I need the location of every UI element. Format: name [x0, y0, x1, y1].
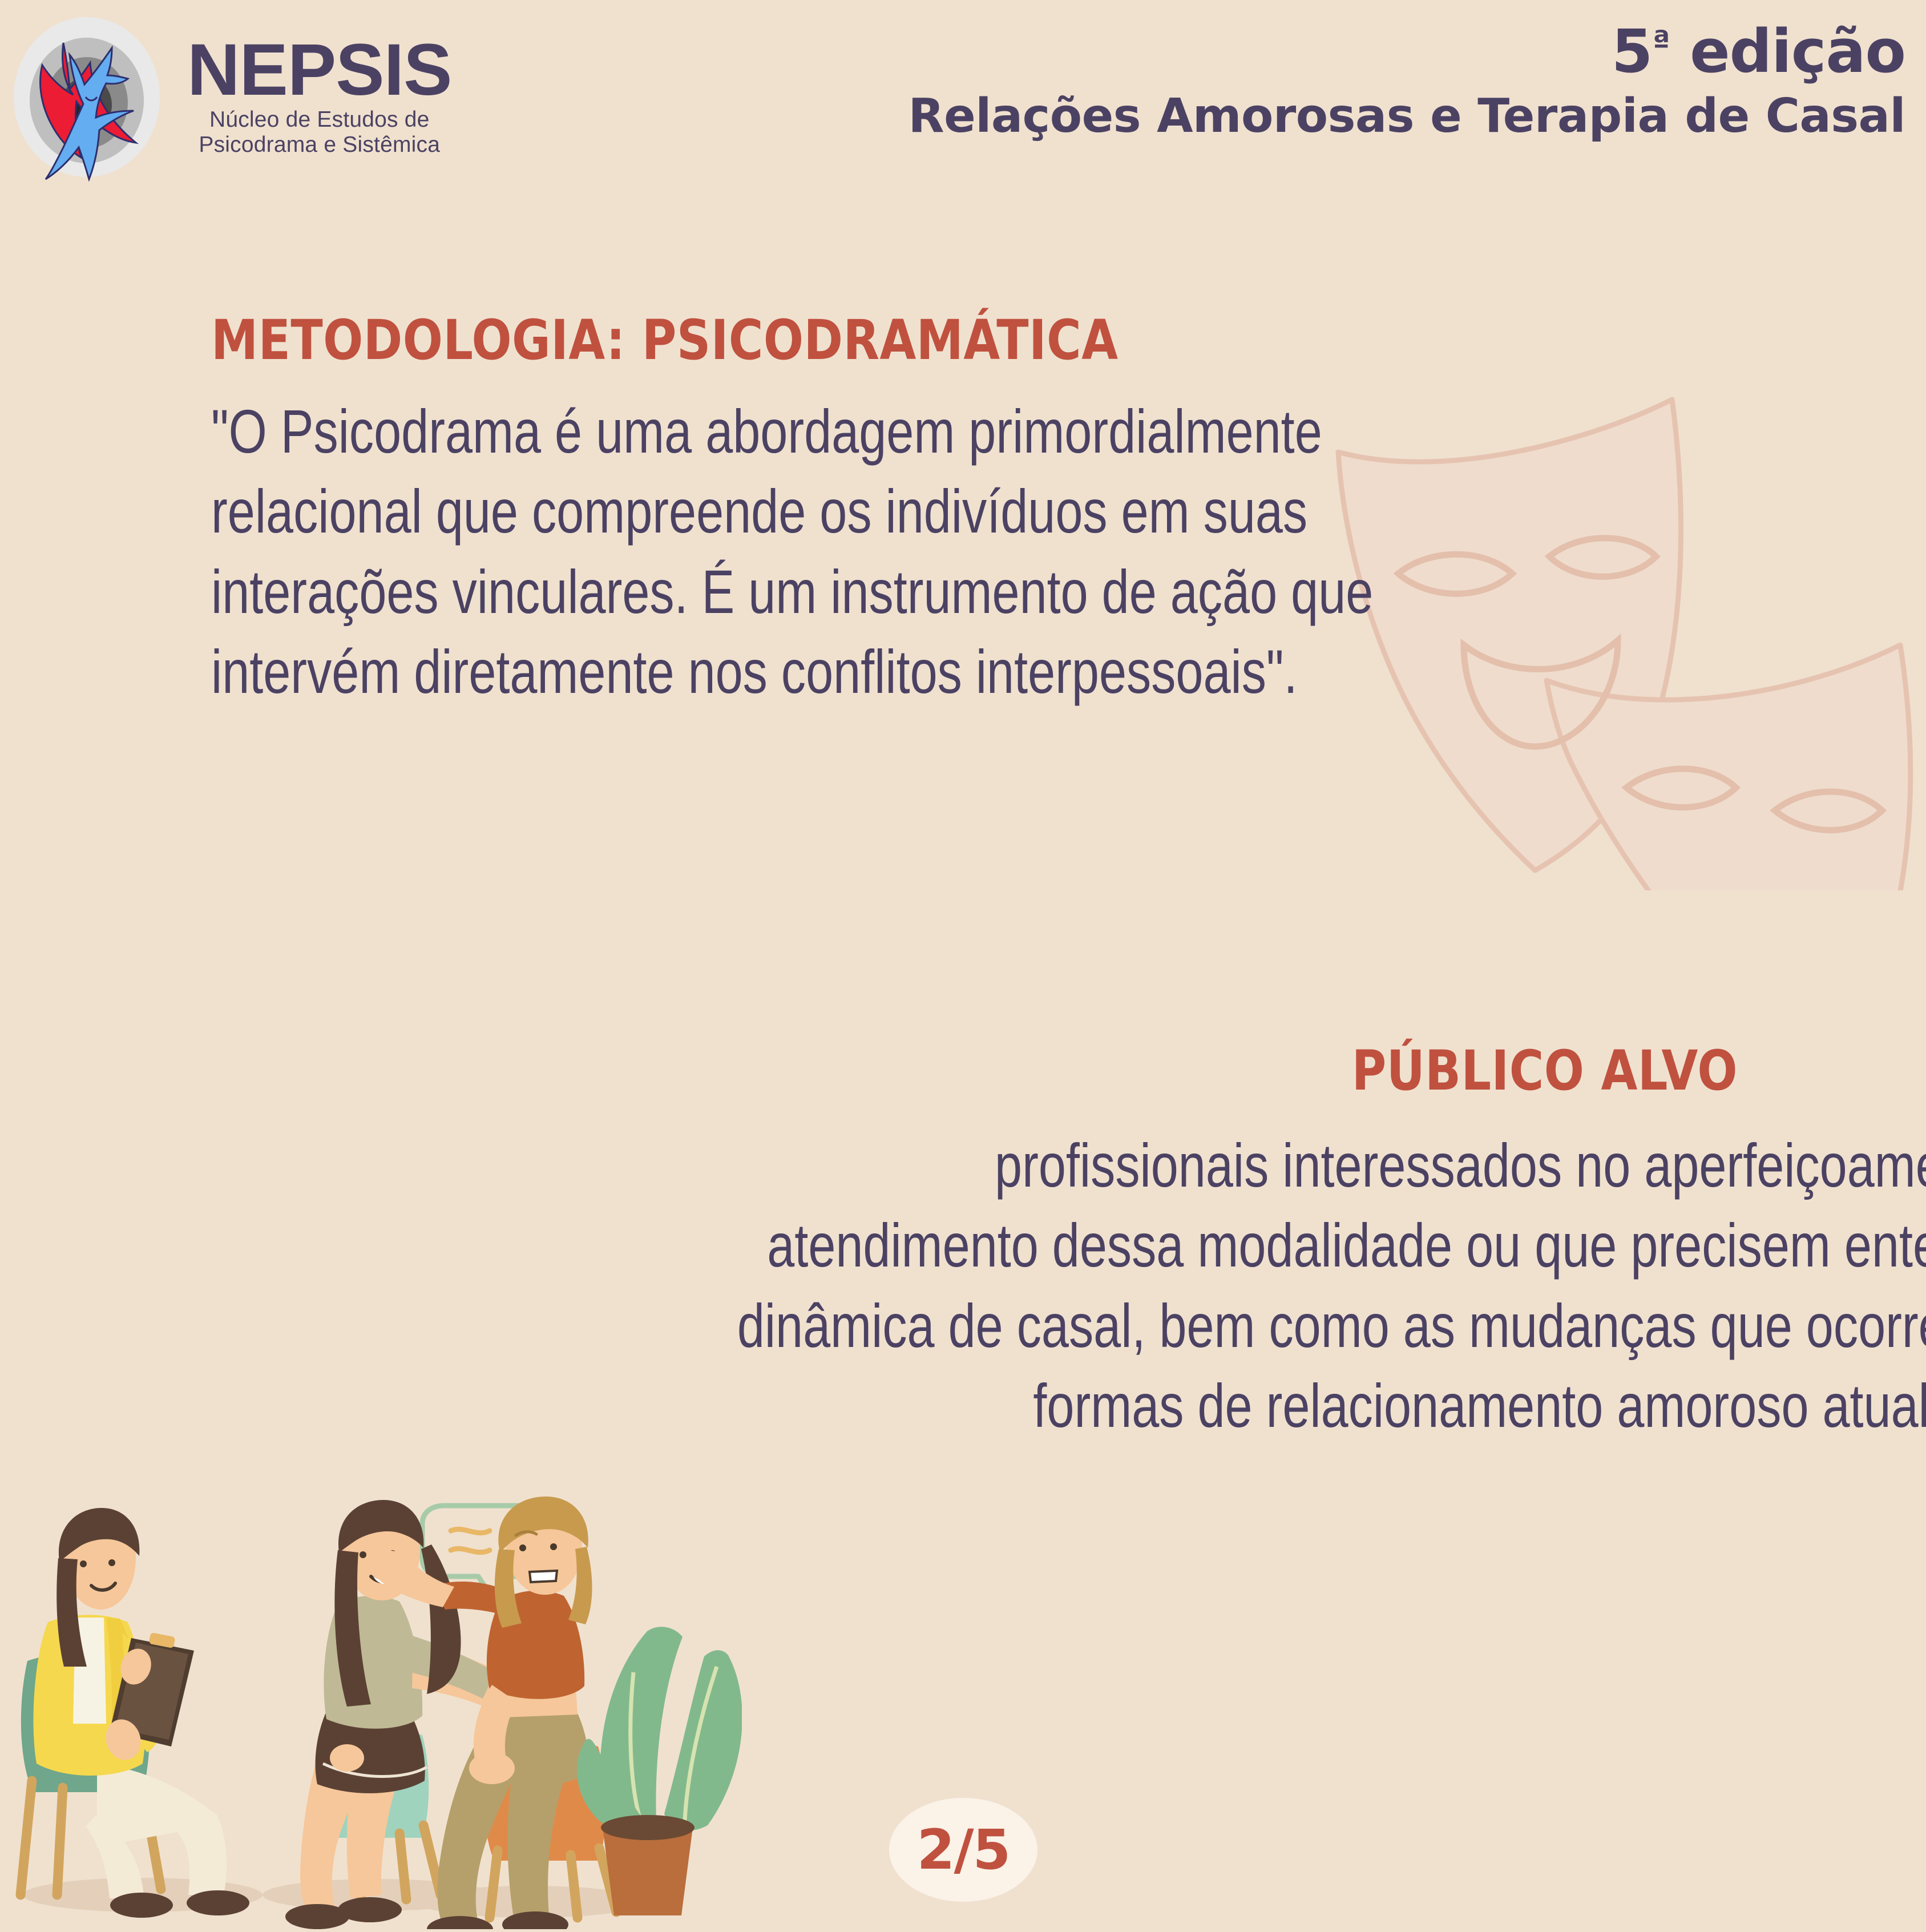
- audience-body: profissionais interessados no aperfeiçoa…: [710, 1126, 1926, 1446]
- poster-canvas: NEPSIS Núcleo de Estudos de Psicodrama e…: [0, 0, 1926, 1926]
- brand-subtitle: Núcleo de Estudos de Psicodrama e Sistêm…: [187, 107, 452, 158]
- nepsis-dancing-figures-logo-icon: [6, 10, 177, 181]
- brand-logo: NEPSIS Núcleo de Estudos de Psicodrama e…: [6, 10, 452, 181]
- brand-name: NEPSIS: [187, 37, 452, 104]
- edition-word: edição: [1670, 17, 1905, 86]
- page-indicator-text: 2/5: [917, 1818, 1010, 1882]
- audience-section: PÚBLICO ALVO profissionais interessados …: [368, 1039, 1738, 1446]
- person-facilitator: [21, 1508, 249, 1918]
- brand-subtitle-line2: Psicodrama e Sistêmica: [187, 132, 452, 158]
- audience-heading: PÚBLICO ALVO: [560, 1039, 1738, 1103]
- methodology-heading: METODOLOGIA: PSICODRAMÁTICA: [211, 308, 1350, 372]
- group-therapy-illustration: [0, 1495, 742, 1929]
- brand-subtitle-line1: Núcleo de Estudos de: [187, 107, 452, 132]
- brand-text: NEPSIS Núcleo de Estudos de Psicodrama e…: [187, 10, 452, 158]
- methodology-body: "O Psicodrama é uma abordagem primordial…: [211, 392, 1398, 712]
- edition-label: 5ª edição: [908, 21, 1905, 83]
- edition-number: 5: [1612, 17, 1652, 86]
- methodology-section: METODOLOGIA: PSICODRAMÁTICA "O Psicodram…: [211, 308, 1535, 712]
- page-indicator-badge: 2/5: [889, 1798, 1037, 1902]
- event-subtitle: Relações Amorosas e Terapia de Casal: [908, 91, 1905, 142]
- event-header: 5ª edição Relações Amorosas e Terapia de…: [908, 21, 1905, 142]
- edition-ordinal: ª: [1652, 25, 1670, 62]
